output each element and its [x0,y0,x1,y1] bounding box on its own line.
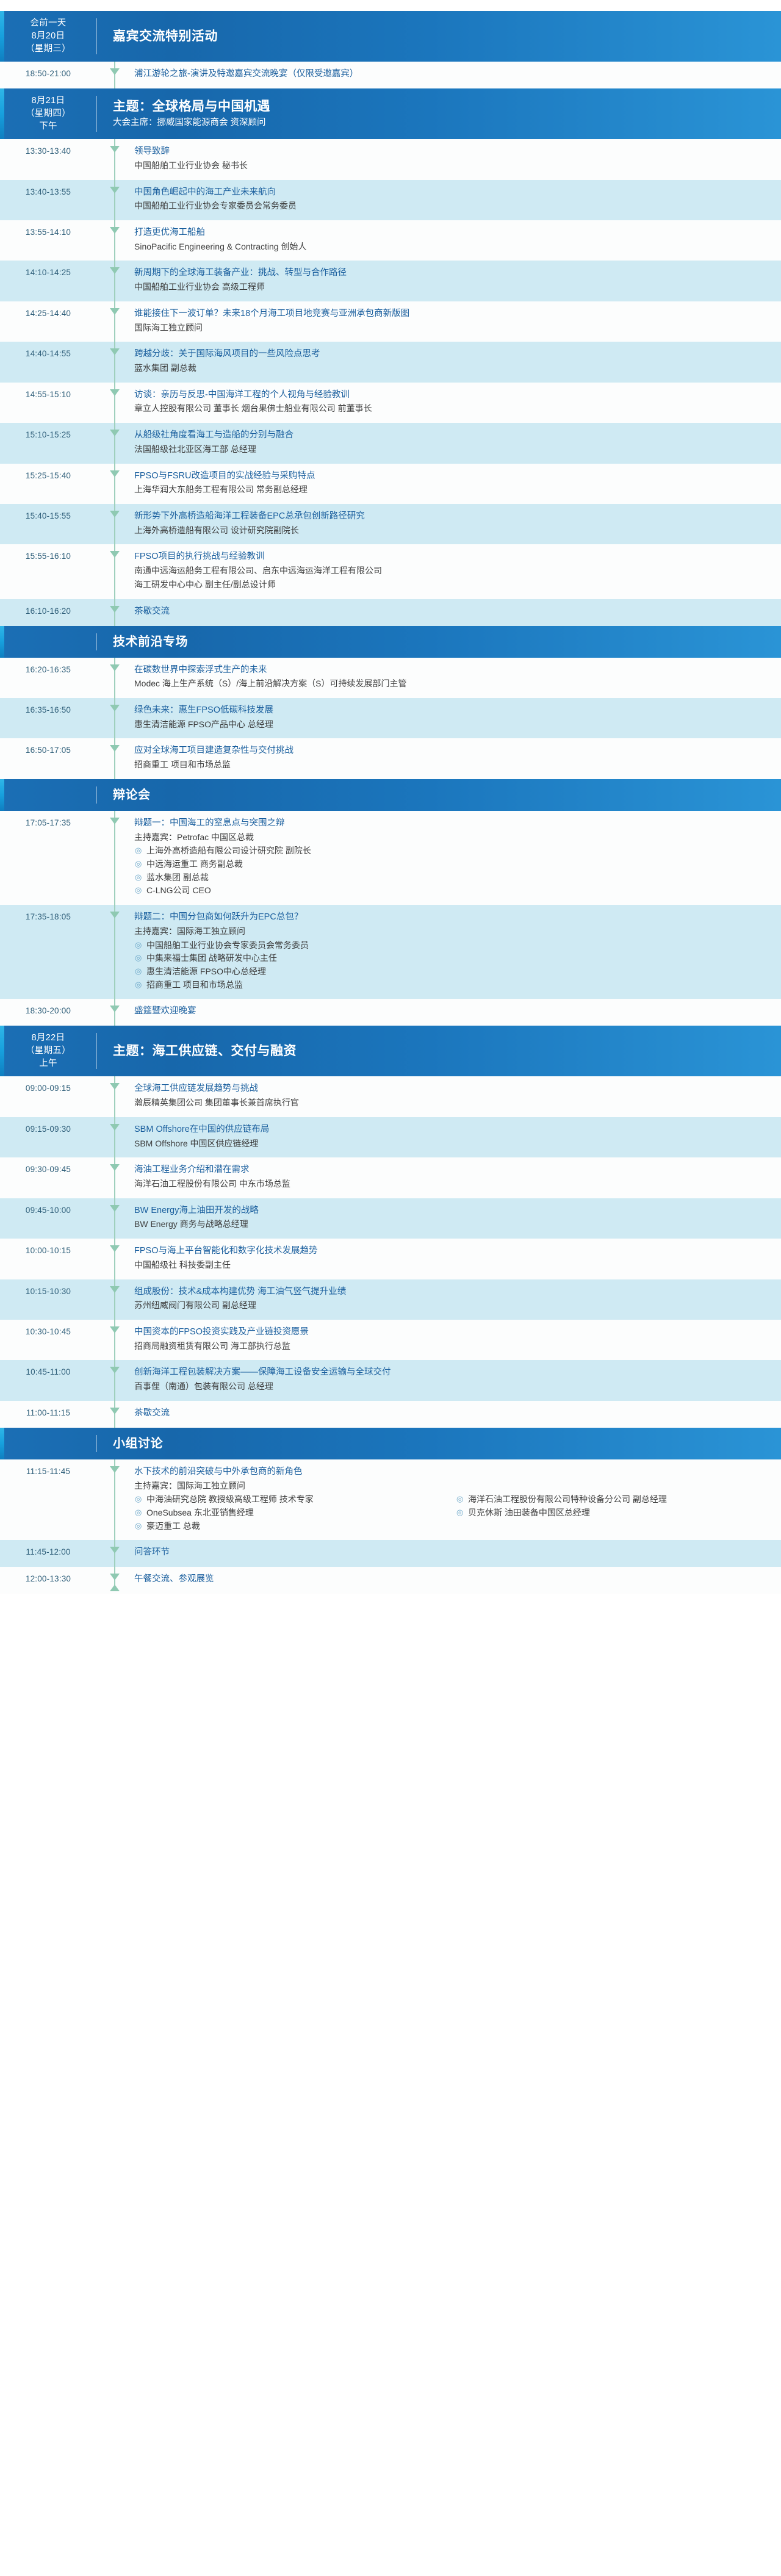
timeline-track [96,1459,133,1541]
agenda-row: 13:40-13:55中国角色崛起中的海工产业未来航向中国船舶工业行业协会专家委… [0,180,781,220]
timeline-line [114,1198,115,1239]
timeline-marker-icon [110,1466,120,1473]
agenda-row-content: 茶歇交流 [133,599,781,626]
timeline-marker-icon [110,308,120,315]
agenda-row: 11:15-11:45水下技术的前沿突破与中外承包商的新角色主持嘉宾：国际海工独… [0,1459,781,1541]
timeline-track [96,62,133,88]
panel-bullet-icon: ◎ [135,858,142,870]
panel-bullet-icon: ◎ [456,1506,463,1519]
agenda-row-content: 水下技术的前沿突破与中外承包商的新角色主持嘉宾：国际海工独立顾问◎中海油研究总院… [133,1459,781,1541]
agenda-row-speaker: 招商重工 项目和市场总监 [134,758,771,772]
agenda-row-time: 16:50-17:05 [0,738,96,779]
agenda-row-content: 在碳数世界中探索浮式生产的未来Modec 海上生产系统（S）/海上前沿解决方案（… [133,658,781,698]
timeline-marker-icon [110,470,120,477]
timeline-track [96,301,133,342]
timeline-marker-icon [110,389,120,396]
agenda-row-title: 从船级社角度看海工与造船的分别与融合 [134,429,771,442]
panel-guest-item: ◎中国船舶工业行业协会专家委员会常务委员 [134,939,771,952]
agenda-row-title: 茶歇交流 [134,605,771,619]
agenda-row-title: 全球海工供应链发展趋势与挑战 [134,1082,771,1096]
agenda-row-content: 从船级社角度看海工与造船的分别与融合法国船级社北亚区海工部 总经理 [133,423,781,463]
panel-guest-list-left: ◎中海油研究总院 教授级高级工程师 技术专家◎OneSubsea 东北亚销售经理… [134,1493,450,1533]
agenda-row-time: 15:25-15:40 [0,464,96,504]
timeline-line [114,464,115,504]
timeline-line [114,342,115,382]
agenda-row-time: 16:10-16:20 [0,599,96,626]
panel-guest-item: ◎中远海运重工 商务副总裁 [134,858,771,871]
timeline-line [114,1540,115,1567]
timeline-marker-icon [110,267,120,274]
panel-guest-label: OneSubsea 东北亚销售经理 [146,1508,254,1517]
timeline-line [114,504,115,544]
agenda-row-title: 打造更优海工船舶 [134,226,771,240]
agenda-row-speaker: 国际海工独立顾问 [134,322,771,335]
panel-guest-label: 蓝水集团 副总裁 [146,872,209,882]
agenda-row: 09:30-09:45海油工程业务介绍和潜在需求海洋石油工程股份有限公司 中东市… [0,1157,781,1198]
agenda-row-time: 16:35-16:50 [0,698,96,738]
timeline-line [114,301,115,342]
agenda-row-speaker: 南通中远海运船务工程有限公司、启东中远海运海洋工程有限公司 [134,564,771,578]
agenda-row: 12:00-13:30午餐交流、参观展览 [0,1567,781,1594]
agenda-row: 17:05-17:35辩题一：中国海工的窒息点与突围之辩主持嘉宾：Petrofa… [0,811,781,905]
agenda-row-content: 领导致辞中国船舶工业行业协会 秘书长 [133,139,781,179]
agenda-row: 14:40-14:55跨越分歧：关于国际海风项目的一些风险点思考蓝水集团 副总裁 [0,342,781,382]
agenda-row-content: 组成股份：技术&成本构建优势 海工油气竖气提升业绩苏州纽威阀门有限公司 副总经理 [133,1279,781,1320]
agenda-row-speaker: 招商局融资租赁有限公司 海工部执行总监 [134,1340,771,1353]
timeline-track [96,1239,133,1279]
timeline-track [96,658,133,698]
agenda-row-content: 中国资本的FPSO投资实践及产业链投资愿景招商局融资租赁有限公司 海工部执行总监 [133,1320,781,1360]
panel-guest-label: C-LNG公司 CEO [146,885,211,895]
agenda-row-title: 茶歇交流 [134,1407,771,1420]
timeline-track [96,342,133,382]
timeline-line [114,383,115,423]
timeline-marker-icon [110,1547,120,1553]
timeline-marker-icon [110,1083,120,1090]
timeline-line [114,139,115,179]
timeline-line [114,1239,115,1279]
timeline-track [96,811,133,905]
agenda-row-time: 13:55-14:10 [0,220,96,261]
day-title-column: 辩论会 [97,779,781,811]
panel-guest-item: ◎蓝水集团 副总裁 [134,871,771,885]
agenda-row-title: 中国角色崛起中的海工产业未来航向 [134,186,771,200]
panel-guest-label: 豪迈重工 总裁 [146,1521,200,1531]
agenda-row-time: 09:15-09:30 [0,1117,96,1157]
agenda-row-speaker: 瀚辰精英集团公司 集团董事长兼首席执行官 [134,1096,771,1110]
timeline-track [96,1360,133,1400]
agenda-row-title: 新周期下的全球海工装备产业：挑战、转型与合作路径 [134,267,771,280]
agenda-row: 15:55-16:10FPSO项目的执行挑战与经验教训南通中远海运船务工程有限公… [0,544,781,599]
agenda-row-speaker: SinoPacific Engineering & Contracting 创始… [134,240,771,254]
timeline-track [96,383,133,423]
agenda-row-time: 17:35-18:05 [0,905,96,999]
agenda-row-content: 茶歇交流 [133,1401,781,1428]
agenda-row-content: BW Energy海上油田开发的战略BW Energy 商务与战略总经理 [133,1198,781,1239]
agenda-row-time: 11:15-11:45 [0,1459,96,1541]
agenda-row-title: 应对全球海工项目建造复杂性与交付挑战 [134,744,771,758]
agenda-row-time: 10:45-11:00 [0,1360,96,1400]
panel-guests-columns: ◎中海油研究总院 教授级高级工程师 技术专家◎OneSubsea 东北亚销售经理… [134,1492,771,1533]
panel-guests-col-left: ◎中海油研究总院 教授级高级工程师 技术专家◎OneSubsea 东北亚销售经理… [134,1492,450,1533]
day-title: 嘉宾交流特别活动 [113,28,770,45]
agenda-row-time: 09:30-09:45 [0,1157,96,1198]
agenda-row-title: 水下技术的前沿突破与中外承包商的新角色 [134,1466,771,1479]
timeline-marker-icon [110,745,120,752]
agenda-row: 17:35-18:05辩题二：中国分包商如何跃升为EPC总包？主持嘉宾：国际海工… [0,905,781,999]
timeline-line [114,62,115,88]
timeline-line [114,811,115,905]
day-date-line: 8月21日 [32,95,65,107]
day-date-line: 下午 [39,120,57,133]
agenda-row-content: 访谈：亲历与反思-中国海洋工程的个人视角与经验教训章立人控股有限公司 董事长 烟… [133,383,781,423]
timeline-marker-icon [110,818,120,824]
agenda-row-content: SBM Offshore在中国的供应链布局SBM Offshore 中国区供应链… [133,1117,781,1157]
timeline-track [96,544,133,599]
agenda-row-title: BW Energy海上油田开发的战略 [134,1204,771,1218]
panel-guest-label: 上海外高桥造船有限公司设计研究院 副院长 [146,846,311,855]
agenda-row-content: 应对全球海工项目建造复杂性与交付挑战招商重工 项目和市场总监 [133,738,781,779]
day-title: 小组讨论 [113,1436,770,1452]
timeline-marker-icon [110,1326,120,1333]
agenda-row-title: 问答环节 [134,1546,771,1560]
agenda-row: 09:45-10:00BW Energy海上油田开发的战略BW Energy 商… [0,1198,781,1239]
agenda-row: 15:40-15:55新形势下外高桥造船海洋工程装备EPC总承包创新路径研究上海… [0,504,781,544]
agenda-row-time: 12:00-13:30 [0,1567,96,1594]
agenda-row-time: 10:00-10:15 [0,1239,96,1279]
timeline-line [114,261,115,301]
agenda-row-speaker: 海工研发中心中心 副主任/副总设计师 [134,578,771,592]
agenda-row: 14:55-15:10访谈：亲历与反思-中国海洋工程的个人视角与经验教训章立人控… [0,383,781,423]
agenda-row-title: FPSO与海上平台智能化和数字化技术发展趋势 [134,1245,771,1258]
agenda-row: 10:45-11:00创新海洋工程包装解决方案——保障海工设备安全运输与全球交付… [0,1360,781,1400]
panel-bullet-icon: ◎ [135,939,142,951]
panel-bullet-icon: ◎ [135,1493,142,1505]
panel-bullet-icon: ◎ [135,979,142,991]
day-title-column: 小组讨论 [97,1428,781,1459]
session-header-bar: 小组讨论 [0,1428,781,1459]
timeline-track [96,1076,133,1117]
agenda-row-content: 辩题一：中国海工的窒息点与突围之辩主持嘉宾：Petrofac 中国区总裁◎上海外… [133,811,781,905]
agenda-row-speaker: 上海外高桥造船有限公司 设计研究院副院长 [134,524,771,538]
timeline-line [114,180,115,220]
timeline-track [96,139,133,179]
agenda-row-time: 15:55-16:10 [0,544,96,599]
agenda-row: 14:10-14:25新周期下的全球海工装备产业：挑战、转型与合作路径中国船舶工… [0,261,781,301]
agenda-row-content: 盛筵暨欢迎晚宴 [133,999,781,1026]
timeline-line [114,599,115,626]
agenda-row-title: 盛筵暨欢迎晚宴 [134,1005,771,1018]
day-date-line: 上午 [39,1057,57,1070]
panel-host-label: 主持嘉宾：国际海工独立顾问 [134,925,771,938]
agenda-row-title: 浦江游轮之旅-演讲及特邀嘉宾交流晚宴（仅限受邀嘉宾） [134,68,771,81]
timeline-track [96,1279,133,1320]
agenda-row: 15:10-15:25从船级社角度看海工与造船的分别与融合法国船级社北亚区海工部… [0,423,781,463]
agenda-row-content: 问答环节 [133,1540,781,1567]
panel-guest-item: ◎贝克休斯 油田装备中国区总经理 [456,1506,771,1520]
day-date-line: （星期五） [26,1045,71,1057]
panel-guest-list-left: ◎上海外高桥造船有限公司设计研究院 副院长◎中远海运重工 商务副总裁◎蓝水集团 … [134,844,771,898]
agenda-row-content: 跨越分歧：关于国际海风项目的一些风险点思考蓝水集团 副总裁 [133,342,781,382]
agenda-row-title: 访谈：亲历与反思-中国海洋工程的个人视角与经验教训 [134,389,771,402]
agenda-row: 11:45-12:00问答环节 [0,1540,781,1567]
timeline-marker-icon [110,1286,120,1293]
conference-agenda: 会前一天8月20日（星期三）嘉宾交流特别活动18:50-21:00浦江游轮之旅-… [0,11,781,1594]
agenda-row-content: 中国角色崛起中的海工产业未来航向中国船舶工业行业协会专家委员会常务委员 [133,180,781,220]
agenda-row-content: FPSO与FSRU改造项目的实战经验与采购特点上海华润大东船务工程有限公司 常务… [133,464,781,504]
session-header-bar: 辩论会 [0,779,781,811]
panel-guest-item: ◎中集来福士集团 战略研发中心主任 [134,952,771,965]
panel-guest-item: ◎惠生清洁能源 FPSO中心总经理 [134,965,771,979]
agenda-row-content: 创新海洋工程包装解决方案——保障海工设备安全运输与全球交付百事俚（南通）包装有限… [133,1360,781,1400]
timeline-marker-icon [110,705,120,711]
timeline-track [96,738,133,779]
agenda-row: 13:30-13:40领导致辞中国船舶工业行业协会 秘书长 [0,139,781,179]
timeline-line [114,423,115,463]
agenda-row-time: 18:50-21:00 [0,62,96,88]
timeline-line [114,1360,115,1400]
day-title-column: 主题：全球格局与中国机遇大会主席：挪威国家能源商会 资深顾问 [97,88,781,139]
agenda-row-content: 新周期下的全球海工装备产业：挑战、转型与合作路径中国船舶工业行业协会 高级工程师 [133,261,781,301]
panel-guest-label: 海洋石油工程股份有限公司特种设备分公司 副总经理 [468,1494,667,1504]
panel-guest-label: 中国船舶工业行业协会专家委员会常务委员 [146,940,309,950]
agenda-row-title: 辩题二：中国分包商如何跃升为EPC总包？ [134,911,771,924]
agenda-row: 11:00-11:15茶歇交流 [0,1401,781,1428]
day-header-bar: 8月21日（星期四）下午主题：全球格局与中国机遇大会主席：挪威国家能源商会 资深… [0,88,781,139]
agenda-row-speaker: 上海华润大东船务工程有限公司 常务副总经理 [134,483,771,497]
day-date-line: 8月20日 [32,30,65,43]
day-date-line: 会前一天 [30,17,66,30]
agenda-row-speaker: 百事俚（南通）包装有限公司 总经理 [134,1380,771,1394]
timeline-line [114,698,115,738]
timeline-track [96,698,133,738]
day-title: 主题：海工供应链、交付与融资 [113,1043,770,1059]
agenda-row-title: 领导致辞 [134,145,771,159]
panel-guest-item: ◎海洋石油工程股份有限公司特种设备分公司 副总经理 [456,1493,771,1506]
timeline-marker-icon [110,1367,120,1373]
agenda-row-content: FPSO与海上平台智能化和数字化技术发展趋势中国船级社 科技委副主任 [133,1239,781,1279]
panel-guest-label: 中海油研究总院 教授级高级工程师 技术专家 [146,1494,314,1504]
agenda-row: 18:50-21:00浦江游轮之旅-演讲及特邀嘉宾交流晚宴（仅限受邀嘉宾） [0,62,781,88]
timeline-marker-icon [110,511,120,517]
timeline-line [114,220,115,261]
agenda-row-speaker: 苏州纽威阀门有限公司 副总经理 [134,1299,771,1312]
timeline-end-arrow-icon [110,1585,120,1591]
timeline-track [96,1320,133,1360]
agenda-row-speaker: BW Energy 商务与战略总经理 [134,1218,771,1231]
timeline-track [96,1401,133,1428]
panel-bullet-icon: ◎ [135,884,142,896]
agenda-row-title: 辩题一：中国海工的窒息点与突围之辩 [134,817,771,830]
timeline-track [96,464,133,504]
timeline-track [96,1540,133,1567]
agenda-row: 16:35-16:50绿色未来：惠生FPSO低碳科技发展惠生清洁能源 FPSO产… [0,698,781,738]
timeline-track [96,423,133,463]
agenda-row-time: 09:45-10:00 [0,1198,96,1239]
agenda-row-content: 谁能接住下一波订单？未来18个月海工项目地竞赛与亚洲承包商新版图国际海工独立顾问 [133,301,781,342]
agenda-row-content: 绿色未来：惠生FPSO低碳科技发展惠生清洁能源 FPSO产品中心 总经理 [133,698,781,738]
agenda-row: 10:15-10:30组成股份：技术&成本构建优势 海工油气竖气提升业绩苏州纽威… [0,1279,781,1320]
timeline-marker-icon [110,1574,120,1580]
timeline-marker-icon [110,1245,120,1252]
panel-guest-label: 贝克休斯 油田装备中国区总经理 [468,1508,590,1517]
day-title: 辩论会 [113,787,770,803]
day-date-line: 8月22日 [32,1032,65,1045]
agenda-row-title: SBM Offshore在中国的供应链布局 [134,1123,771,1137]
day-header-bar: 会前一天8月20日（星期三）嘉宾交流特别活动 [0,11,781,62]
day-title-column: 技术前沿专场 [97,626,781,658]
timeline-marker-icon [110,606,120,613]
agenda-row-time: 16:20-16:35 [0,658,96,698]
agenda-row-speaker: 章立人控股有限公司 董事长 烟台果佛士船业有限公司 前董事长 [134,402,771,416]
agenda-row-time: 10:15-10:30 [0,1279,96,1320]
agenda-row-time: 17:05-17:35 [0,811,96,905]
timeline-line [114,1401,115,1428]
agenda-row-time: 13:30-13:40 [0,139,96,179]
panel-bullet-icon: ◎ [135,871,142,883]
agenda-row-title: 中国资本的FPSO投资实践及产业链投资愿景 [134,1326,771,1339]
timeline-marker-icon [110,1124,120,1131]
timeline-line [114,1076,115,1117]
agenda-row-content: 午餐交流、参观展览 [133,1567,781,1594]
agenda-row-time: 13:40-13:55 [0,180,96,220]
panel-bullet-icon: ◎ [135,952,142,964]
agenda-row: 09:15-09:30SBM Offshore在中国的供应链布局SBM Offs… [0,1117,781,1157]
timeline-track [96,180,133,220]
panel-guest-list-left: ◎中国船舶工业行业协会专家委员会常务委员◎中集来福士集团 战略研发中心主任◎惠生… [134,939,771,992]
timeline-marker-icon [110,1408,120,1414]
agenda-row-speaker: 海洋石油工程股份有限公司 中东市场总监 [134,1178,771,1191]
agenda-row-time: 14:40-14:55 [0,342,96,382]
timeline-marker-icon [110,1164,120,1171]
day-title: 技术前沿专场 [113,634,770,650]
panel-guest-label: 中集来福士集团 战略研发中心主任 [146,953,277,963]
day-subtitle: 大会主席：挪威国家能源商会 资深顾问 [113,117,770,129]
agenda-row-title: 组成股份：技术&成本构建优势 海工油气竖气提升业绩 [134,1286,771,1299]
panel-host-label: 主持嘉宾：国际海工独立顾问 [134,1480,771,1493]
agenda-row-time: 15:10-15:25 [0,423,96,463]
timeline-marker-icon [110,187,120,193]
timeline-track [96,1567,133,1594]
timeline-track [96,1157,133,1198]
timeline-track [96,1198,133,1239]
day-date-column: 8月21日（星期四）下午 [0,88,96,139]
timeline-track [96,504,133,544]
timeline-track [96,905,133,999]
timeline-marker-icon [110,1006,120,1012]
panel-bullet-icon: ◎ [135,965,142,977]
timeline-marker-icon [110,430,120,436]
agenda-row-content: 新形势下外高桥造船海洋工程装备EPC总承包创新路径研究上海外高桥造船有限公司 设… [133,504,781,544]
timeline-marker-icon [110,146,120,153]
session-header-bar: 技术前沿专场 [0,626,781,658]
agenda-row: 16:50-17:05应对全球海工项目建造复杂性与交付挑战招商重工 项目和市场总… [0,738,781,779]
agenda-row-speaker: 中国船舶工业行业协会专家委员会常务委员 [134,200,771,213]
timeline-track [96,1117,133,1157]
agenda-row-speaker: 中国船舶工业行业协会 高级工程师 [134,281,771,294]
timeline-track [96,220,133,261]
agenda-row-title: 午餐交流、参观展览 [134,1573,771,1586]
agenda-row-speaker: SBM Offshore 中国区供应链经理 [134,1137,771,1151]
panel-guest-label: 招商重工 项目和市场总监 [146,980,243,990]
panel-bullet-icon: ◎ [456,1493,463,1505]
panel-guest-label: 惠生清洁能源 FPSO中心总经理 [146,966,266,976]
day-title-column: 嘉宾交流特别活动 [97,11,781,62]
panel-bullet-icon: ◎ [135,1520,142,1532]
timeline-marker-icon [110,348,120,355]
agenda-row-speaker: 法国船级社北亚区海工部 总经理 [134,443,771,456]
timeline-marker-icon [110,227,120,234]
agenda-row-time: 11:00-11:15 [0,1401,96,1428]
timeline-marker-icon [110,551,120,558]
panel-guests-col-right: ◎海洋石油工程股份有限公司特种设备分公司 副总经理◎贝克休斯 油田装备中国区总经… [456,1492,771,1533]
day-title-column: 主题：海工供应链、交付与融资 [97,1026,781,1076]
agenda-row: 16:10-16:20茶歇交流 [0,599,781,626]
timeline-line [114,738,115,779]
panel-host-label: 主持嘉宾：Petrofac 中国区总裁 [134,831,771,844]
agenda-row-speaker: 中国船舶工业行业协会 秘书长 [134,159,771,173]
day-date-column: 会前一天8月20日（星期三） [0,11,96,62]
agenda-row: 18:30-20:00盛筵暨欢迎晚宴 [0,999,781,1026]
panel-guest-item: ◎中海油研究总院 教授级高级工程师 技术专家 [134,1493,450,1506]
agenda-row-content: 全球海工供应链发展趋势与挑战瀚辰精英集团公司 集团董事长兼首席执行官 [133,1076,781,1117]
agenda-row-time: 14:55-15:10 [0,383,96,423]
agenda-row-title: 新形势下外高桥造船海洋工程装备EPC总承包创新路径研究 [134,510,771,523]
agenda-row-title: FPSO项目的执行挑战与经验教训 [134,550,771,564]
day-date-line: （星期四） [26,107,71,120]
timeline-marker-icon [110,664,120,671]
agenda-row-time: 10:30-10:45 [0,1320,96,1360]
agenda-row-time: 09:00-09:15 [0,1076,96,1117]
day-header-bar: 8月22日（星期五）上午主题：海工供应链、交付与融资 [0,1026,781,1076]
panel-guest-item: ◎上海外高桥造船有限公司设计研究院 副院长 [134,844,771,858]
timeline-line [114,1320,115,1360]
timeline-line [114,1157,115,1198]
agenda-row: 14:25-14:40谁能接住下一波订单？未来18个月海工项目地竞赛与亚洲承包商… [0,301,781,342]
agenda-row-title: 海油工程业务介绍和潜在需求 [134,1164,771,1177]
panel-guest-list-right: ◎海洋石油工程股份有限公司特种设备分公司 副总经理◎贝克休斯 油田装备中国区总经… [456,1493,771,1519]
panel-guest-item: ◎OneSubsea 东北亚销售经理 [134,1506,450,1520]
agenda-row-speaker: 惠生清洁能源 FPSO产品中心 总经理 [134,718,771,732]
agenda-row-title: 创新海洋工程包装解决方案——保障海工设备安全运输与全球交付 [134,1366,771,1380]
agenda-row: 13:55-14:10打造更优海工船舶SinoPacific Engineeri… [0,220,781,261]
timeline-marker-icon [110,68,120,75]
timeline-line [114,999,115,1026]
agenda-row-title: 绿色未来：惠生FPSO低碳科技发展 [134,704,771,718]
agenda-row-content: 辩题二：中国分包商如何跃升为EPC总包？主持嘉宾：国际海工独立顾问◎中国船舶工业… [133,905,781,999]
panel-bullet-icon: ◎ [135,1506,142,1519]
agenda-row-title: 在碳数世界中探索浮式生产的未来 [134,664,771,677]
agenda-row-content: 海油工程业务介绍和潜在需求海洋石油工程股份有限公司 中东市场总监 [133,1157,781,1198]
agenda-row-time: 11:45-12:00 [0,1540,96,1567]
agenda-row: 10:30-10:45中国资本的FPSO投资实践及产业链投资愿景招商局融资租赁有… [0,1320,781,1360]
timeline-line [114,1279,115,1320]
timeline-marker-icon [110,1205,120,1212]
agenda-row-speaker: 蓝水集团 副总裁 [134,362,771,375]
panel-guest-item: ◎招商重工 项目和市场总监 [134,979,771,992]
panel-bullet-icon: ◎ [135,844,142,857]
agenda-row-time: 14:10-14:25 [0,261,96,301]
agenda-row: 10:00-10:15FPSO与海上平台智能化和数字化技术发展趋势中国船级社 科… [0,1239,781,1279]
agenda-row-content: FPSO项目的执行挑战与经验教训南通中远海运船务工程有限公司、启东中远海运海洋工… [133,544,781,599]
agenda-row-content: 打造更优海工船舶SinoPacific Engineering & Contra… [133,220,781,261]
agenda-row-title: 跨越分歧：关于国际海风项目的一些风险点思考 [134,348,771,361]
agenda-row: 16:20-16:35在碳数世界中探索浮式生产的未来Modec 海上生产系统（S… [0,658,781,698]
agenda-row-title: 谁能接住下一波订单？未来18个月海工项目地竞赛与亚洲承包商新版图 [134,308,771,321]
agenda-row-time: 18:30-20:00 [0,999,96,1026]
panel-guest-item: ◎豪迈重工 总裁 [134,1520,450,1533]
agenda-row: 15:25-15:40FPSO与FSRU改造项目的实战经验与采购特点上海华润大东… [0,464,781,504]
